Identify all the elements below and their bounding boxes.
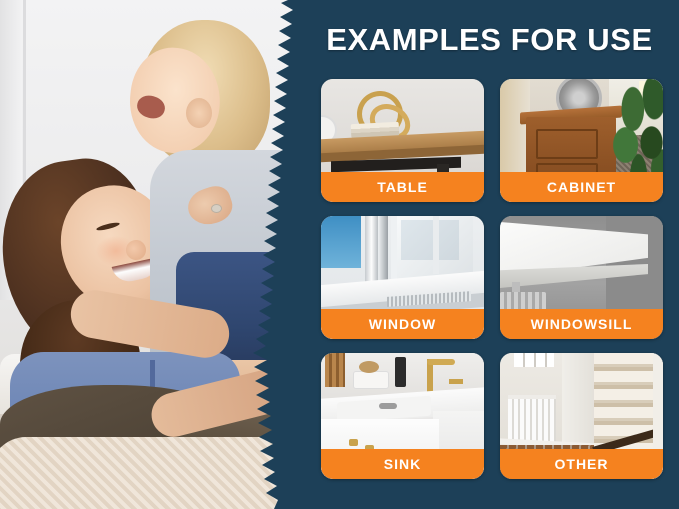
- faucet-spout: [427, 359, 455, 365]
- example-label-windowsill: WINDOWSILL: [500, 309, 663, 339]
- example-card-sink[interactable]: SINK: [321, 353, 484, 479]
- radiator-top: [508, 395, 556, 399]
- example-label-sink: SINK: [321, 449, 484, 479]
- example-label-other: OTHER: [500, 449, 663, 479]
- drain: [379, 403, 397, 409]
- example-label-cabinet: CABINET: [500, 172, 663, 202]
- window-glass: [401, 220, 459, 260]
- decor-object: [359, 361, 379, 373]
- window-frame-a: [365, 216, 378, 290]
- cabinet-panel-top: [536, 129, 598, 159]
- sky: [321, 216, 361, 268]
- soap-bottle: [395, 357, 406, 387]
- wood-art: [325, 353, 345, 387]
- example-label-window: WINDOW: [321, 309, 484, 339]
- window-mullion: [433, 216, 439, 274]
- radiator: [508, 397, 556, 443]
- example-card-window[interactable]: WINDOW: [321, 216, 484, 339]
- example-card-other[interactable]: OTHER: [500, 353, 663, 479]
- bowl: [353, 371, 389, 389]
- example-card-cabinet[interactable]: CABINET: [500, 79, 663, 202]
- examples-grid: TABLE CABINET: [321, 79, 663, 491]
- poster: EXAMPLES FOR USE TABLE: [0, 0, 679, 509]
- window-top: [514, 353, 554, 367]
- example-label-table: TABLE: [321, 172, 484, 202]
- page-title: EXAMPLES FOR USE: [300, 22, 679, 58]
- cabinet-knob-1: [349, 439, 358, 446]
- child-ear: [186, 98, 212, 128]
- example-card-table[interactable]: TABLE: [321, 79, 484, 202]
- example-card-windowsill[interactable]: WINDOWSILL: [500, 216, 663, 339]
- wedding-ring: [211, 204, 222, 213]
- faucet-handle: [449, 379, 463, 384]
- examples-panel: EXAMPLES FOR USE TABLE: [300, 0, 679, 509]
